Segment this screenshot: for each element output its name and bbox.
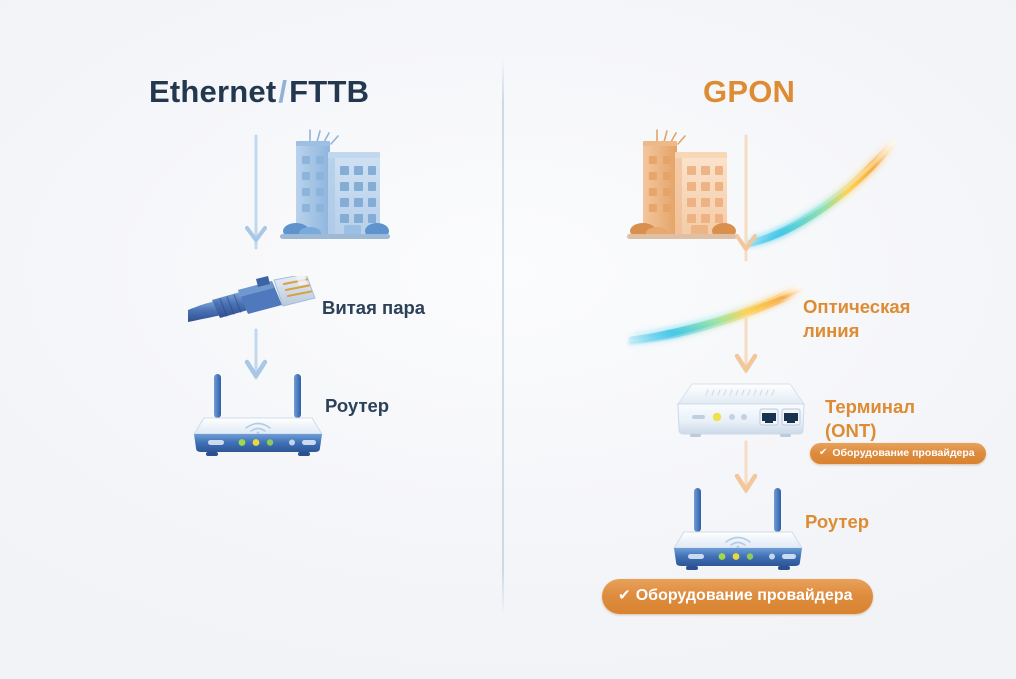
- diagram-canvas: Ethernet/FTTB GPON: [0, 0, 1016, 679]
- status-badge-router-label: Оборудование провайдера: [636, 587, 853, 605]
- office-building-icon-left: [270, 128, 396, 248]
- office-building-icon-right: [617, 128, 743, 248]
- fiber-optic-beam-icon-1: [742, 138, 902, 250]
- label-router-left: Роутер: [325, 394, 389, 418]
- fiber-optic-beam-icon-2: [626, 282, 806, 350]
- check-icon: ✔: [819, 448, 827, 458]
- arrow-down-right-2: [733, 318, 759, 380]
- check-icon: ✔: [618, 588, 631, 603]
- left-title-slash: /: [276, 74, 289, 109]
- arrow-down-right-1: [733, 136, 759, 266]
- left-title-ethernet: Ethernet: [149, 74, 276, 109]
- status-badge-terminal: ✔ Оборудование провайдера: [810, 443, 986, 464]
- rj45-ethernet-cable-icon: [186, 276, 318, 334]
- wifi-router-icon-left: [186, 372, 336, 458]
- label-twisted-pair: Витая пара: [322, 296, 425, 320]
- right-panel-title: GPON: [703, 74, 795, 110]
- label-router-right: Роутер: [805, 510, 869, 534]
- status-badge-router: ✔ Оборудование провайдера: [602, 579, 873, 614]
- label-terminal-ont: Терминал (ONT): [825, 395, 915, 443]
- ont-terminal-icon: [672, 380, 808, 442]
- arrow-down-left-1: [243, 136, 269, 254]
- status-badge-terminal-label: Оборудование провайдера: [832, 447, 974, 459]
- label-optical-line: Оптическая линия: [803, 295, 910, 343]
- panel-divider: [502, 58, 504, 616]
- wifi-router-icon-right: [666, 486, 816, 572]
- left-panel-title: Ethernet/FTTB: [149, 74, 369, 110]
- left-title-fttb: FTTB: [289, 74, 369, 109]
